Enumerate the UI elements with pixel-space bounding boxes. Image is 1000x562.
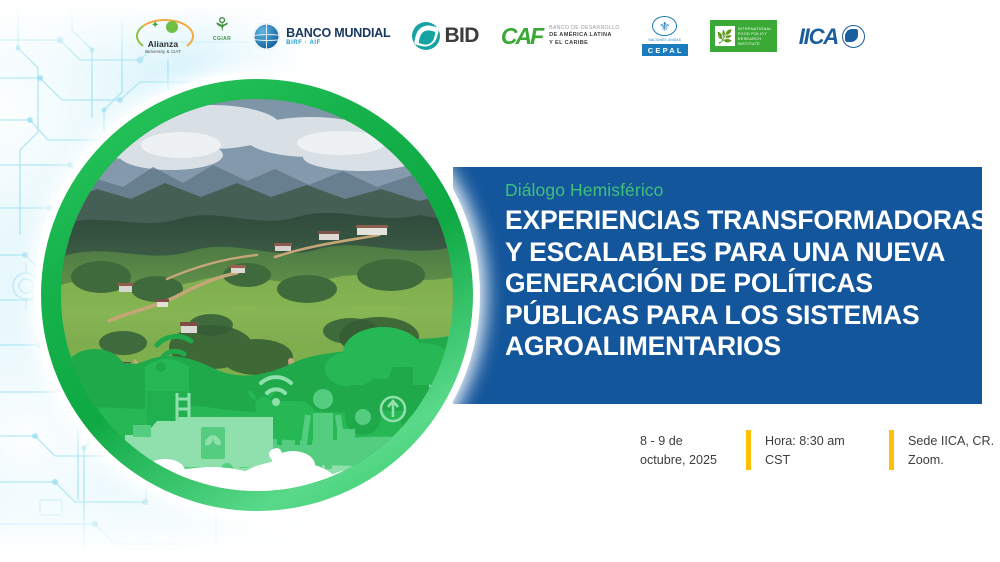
caf-line1: BANCO DE DESARROLLO: [549, 25, 620, 32]
bid-name: BID: [444, 25, 478, 47]
hero-photo: [61, 99, 453, 491]
logo-alianza-bioversity-ciat: ✦ Alianza Bioversity & CIAT: [135, 16, 191, 56]
headline-line-2: Y ESCALABLES PARA UNA NUEVA: [505, 237, 970, 269]
event-time-line2: CST: [765, 451, 875, 470]
event-date: 8 - 9 de octubre, 2025: [640, 430, 732, 469]
cepal-caption: NACIONES UNIDAS: [648, 38, 681, 42]
event-date-line2: octubre, 2025: [640, 451, 732, 470]
event-meta-row: 8 - 9 de octubre, 2025 Hora: 8:30 am CST…: [640, 430, 1000, 488]
logo-bid: BID: [412, 16, 478, 56]
cepal-name: CEPAL: [642, 44, 688, 56]
logo-ifpri: 🌿 INTERNATIONAL FOOD POLICY RESEARCH INS…: [710, 20, 777, 52]
hero-circle: [34, 72, 480, 518]
world-bank-subname: BIRF · AIF: [286, 40, 390, 46]
event-venue: Sede IICA, CR. Zoom.: [908, 430, 1000, 469]
poster-canvas: ✦ Alianza Bioversity & CIAT ⚘ CGIAR BANC…: [0, 0, 1000, 562]
caf-line2: DE AMÉRICA LATINA: [549, 32, 620, 39]
logo-banco-mundial: BANCO MUNDIAL BIRF · AIF: [253, 16, 390, 56]
cgiar-name: CGIAR: [213, 36, 231, 42]
headline-line-3: GENERACIÓN DE POLÍTICAS: [505, 268, 970, 300]
headline-line-1: EXPERIENCIAS TRANSFORMADORAS: [505, 205, 970, 237]
event-venue-line2: Zoom.: [908, 451, 1000, 470]
logo-cgiar: ⚘ CGIAR: [213, 16, 231, 56]
meta-separator-2: [889, 430, 894, 470]
logo-caf: CAF BANCO DE DESARROLLO DE AMÉRICA LATIN…: [501, 16, 620, 56]
headline-panel: Diálogo Hemisférico EXPERIENCIAS TRANSFO…: [453, 167, 982, 404]
logo-iica: IICA: [799, 16, 865, 56]
bid-leaf-icon: [412, 22, 440, 50]
logo-cepal: ⚜ NACIONES UNIDAS CEPAL: [642, 16, 688, 56]
world-bank-name: BANCO MUNDIAL: [286, 27, 390, 40]
caf-wordmark-icon: CAF: [501, 24, 542, 48]
alianza-emblem-icon: ✦: [135, 18, 191, 40]
meta-separator-1: [746, 430, 751, 470]
event-time: Hora: 8:30 am CST: [765, 430, 875, 469]
united-nations-emblem-icon: ⚜: [652, 16, 677, 36]
cgiar-plant-icon: ⚘: [214, 16, 231, 35]
page-title: EXPERIENCIAS TRANSFORMADORAS Y ESCALABLE…: [505, 205, 970, 363]
headline-line-4: PÚBLICAS PARA LOS SISTEMAS: [505, 300, 970, 332]
event-date-line1: 8 - 9 de: [640, 432, 732, 451]
world-bank-globe-icon: [253, 23, 280, 50]
ifpri-leaf-icon: 🌿: [715, 26, 735, 46]
rural-landscape-illustration-icon: [61, 99, 453, 491]
partner-logo-bar: ✦ Alianza Bioversity & CIAT ⚘ CGIAR BANC…: [0, 0, 1000, 72]
event-time-line1: Hora: 8:30 am: [765, 432, 875, 451]
event-venue-line1: Sede IICA, CR.: [908, 432, 1000, 451]
panel-eyebrow: Diálogo Hemisférico: [505, 179, 970, 201]
ifpri-line4: INSTITUTE: [738, 41, 772, 46]
caf-line3: Y EL CARIBE: [549, 40, 620, 47]
iica-wordmark: IICA: [799, 25, 838, 48]
headline-line-5: AGROALIMENTARIOS: [505, 331, 970, 363]
iica-globe-icon: [842, 25, 865, 48]
